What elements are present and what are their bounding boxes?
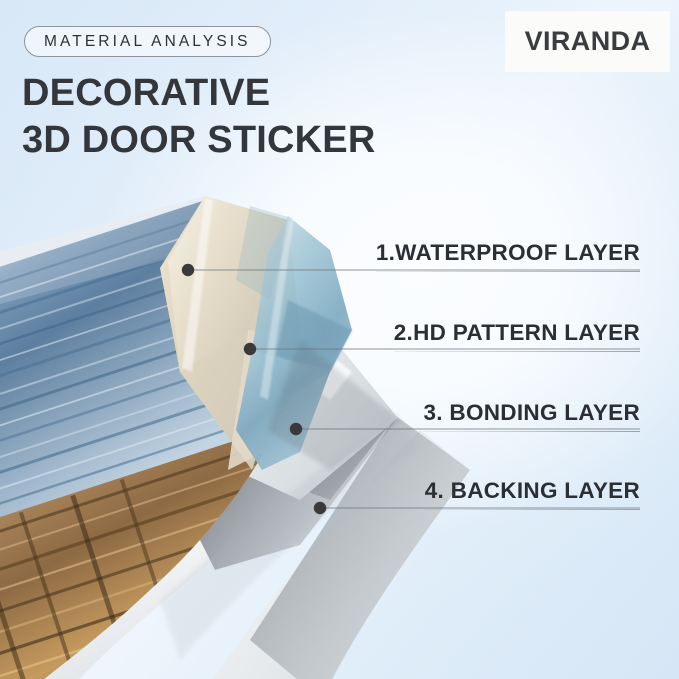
title-line-1: DECORATIVE (22, 72, 270, 114)
callout-4-rule (425, 509, 640, 510)
marker-dot-1 (182, 264, 194, 276)
marker-dot-3 (290, 423, 302, 435)
poster-canvas: MATERIAL ANALYSIS DECORATIVE 3D DOOR STI… (0, 0, 679, 679)
badge-label: MATERIAL ANALYSIS (44, 33, 251, 51)
marker-dot-2 (244, 343, 256, 355)
callout-2-rule (394, 351, 640, 352)
callout-1-rule (376, 271, 640, 272)
title-line-2: 3D DOOR STICKER (22, 117, 375, 164)
callout-1-text: 1.WATERPROOF LAYER (376, 240, 640, 271)
brand-logo: VIRANDA (505, 11, 670, 72)
brand-name: VIRANDA (525, 26, 651, 57)
callout-3-text: 3. BONDING LAYER (423, 400, 640, 431)
page-title: DECORATIVE 3D DOOR STICKER (22, 70, 375, 164)
callout-4-text: 4. BACKING LAYER (425, 478, 640, 509)
callout-label-2: 2.HD PATTERN LAYER (394, 320, 640, 352)
callout-3-rule (423, 431, 640, 432)
callout-2-text: 2.HD PATTERN LAYER (394, 320, 640, 351)
callout-label-4: 4. BACKING LAYER (425, 478, 640, 510)
callout-label-3: 3. BONDING LAYER (423, 400, 640, 432)
marker-dot-4 (314, 502, 326, 514)
material-analysis-badge: MATERIAL ANALYSIS (24, 26, 271, 57)
callout-label-1: 1.WATERPROOF LAYER (376, 240, 640, 272)
